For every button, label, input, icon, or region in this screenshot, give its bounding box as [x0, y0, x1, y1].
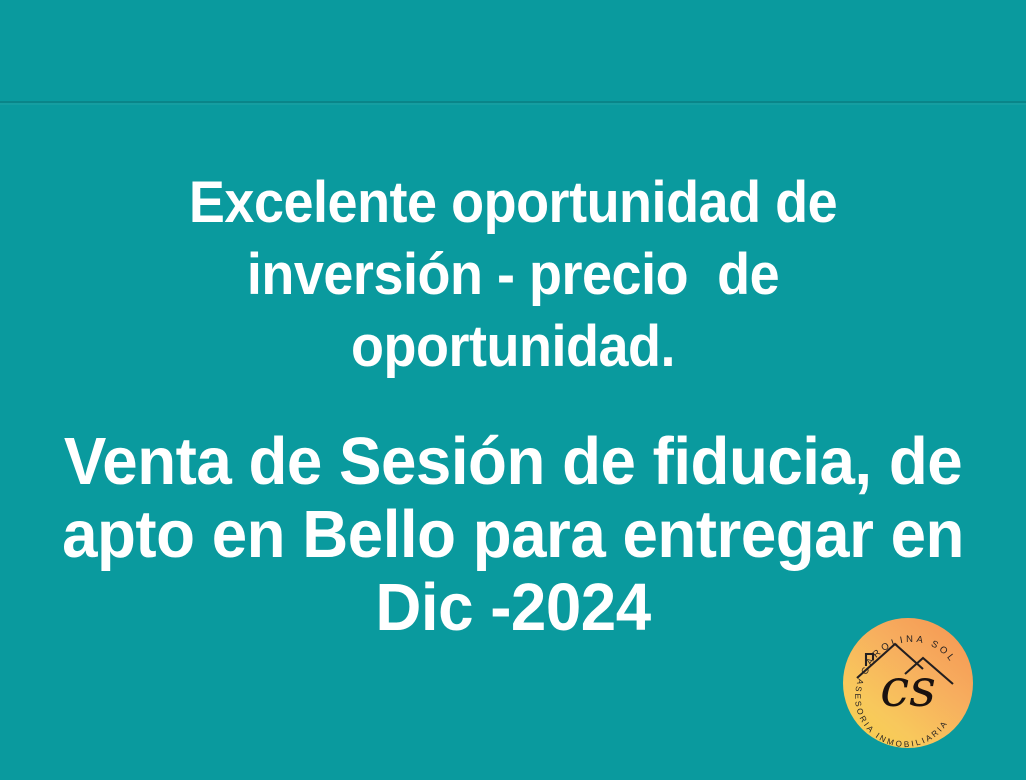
- headline: Excelente oportunidad de inversión - pre…: [0, 167, 1026, 383]
- subheadline-line-1: Venta de Sesión de fiducia, de: [26, 425, 1001, 498]
- logo-artwork: CAROLINA SOLANO ASESORIA INMOBILIARIA cs: [843, 618, 973, 748]
- subheadline-line-2: apto en Bello para entregar en: [26, 498, 1001, 571]
- top-band: [0, 0, 1026, 101]
- headline-line-1: Excelente oportunidad de: [36, 167, 990, 239]
- promo-banner: Excelente oportunidad de inversión - pre…: [0, 0, 1026, 780]
- headline-line-2: inversión - precio de: [36, 239, 990, 311]
- subheadline: Venta de Sesión de fiducia, de apto en B…: [0, 425, 1026, 644]
- logo-monogram: cs: [880, 659, 936, 719]
- headline-line-3: oportunidad.: [36, 311, 990, 383]
- brand-logo-badge[interactable]: CAROLINA SOLANO ASESORIA INMOBILIARIA cs: [843, 618, 973, 748]
